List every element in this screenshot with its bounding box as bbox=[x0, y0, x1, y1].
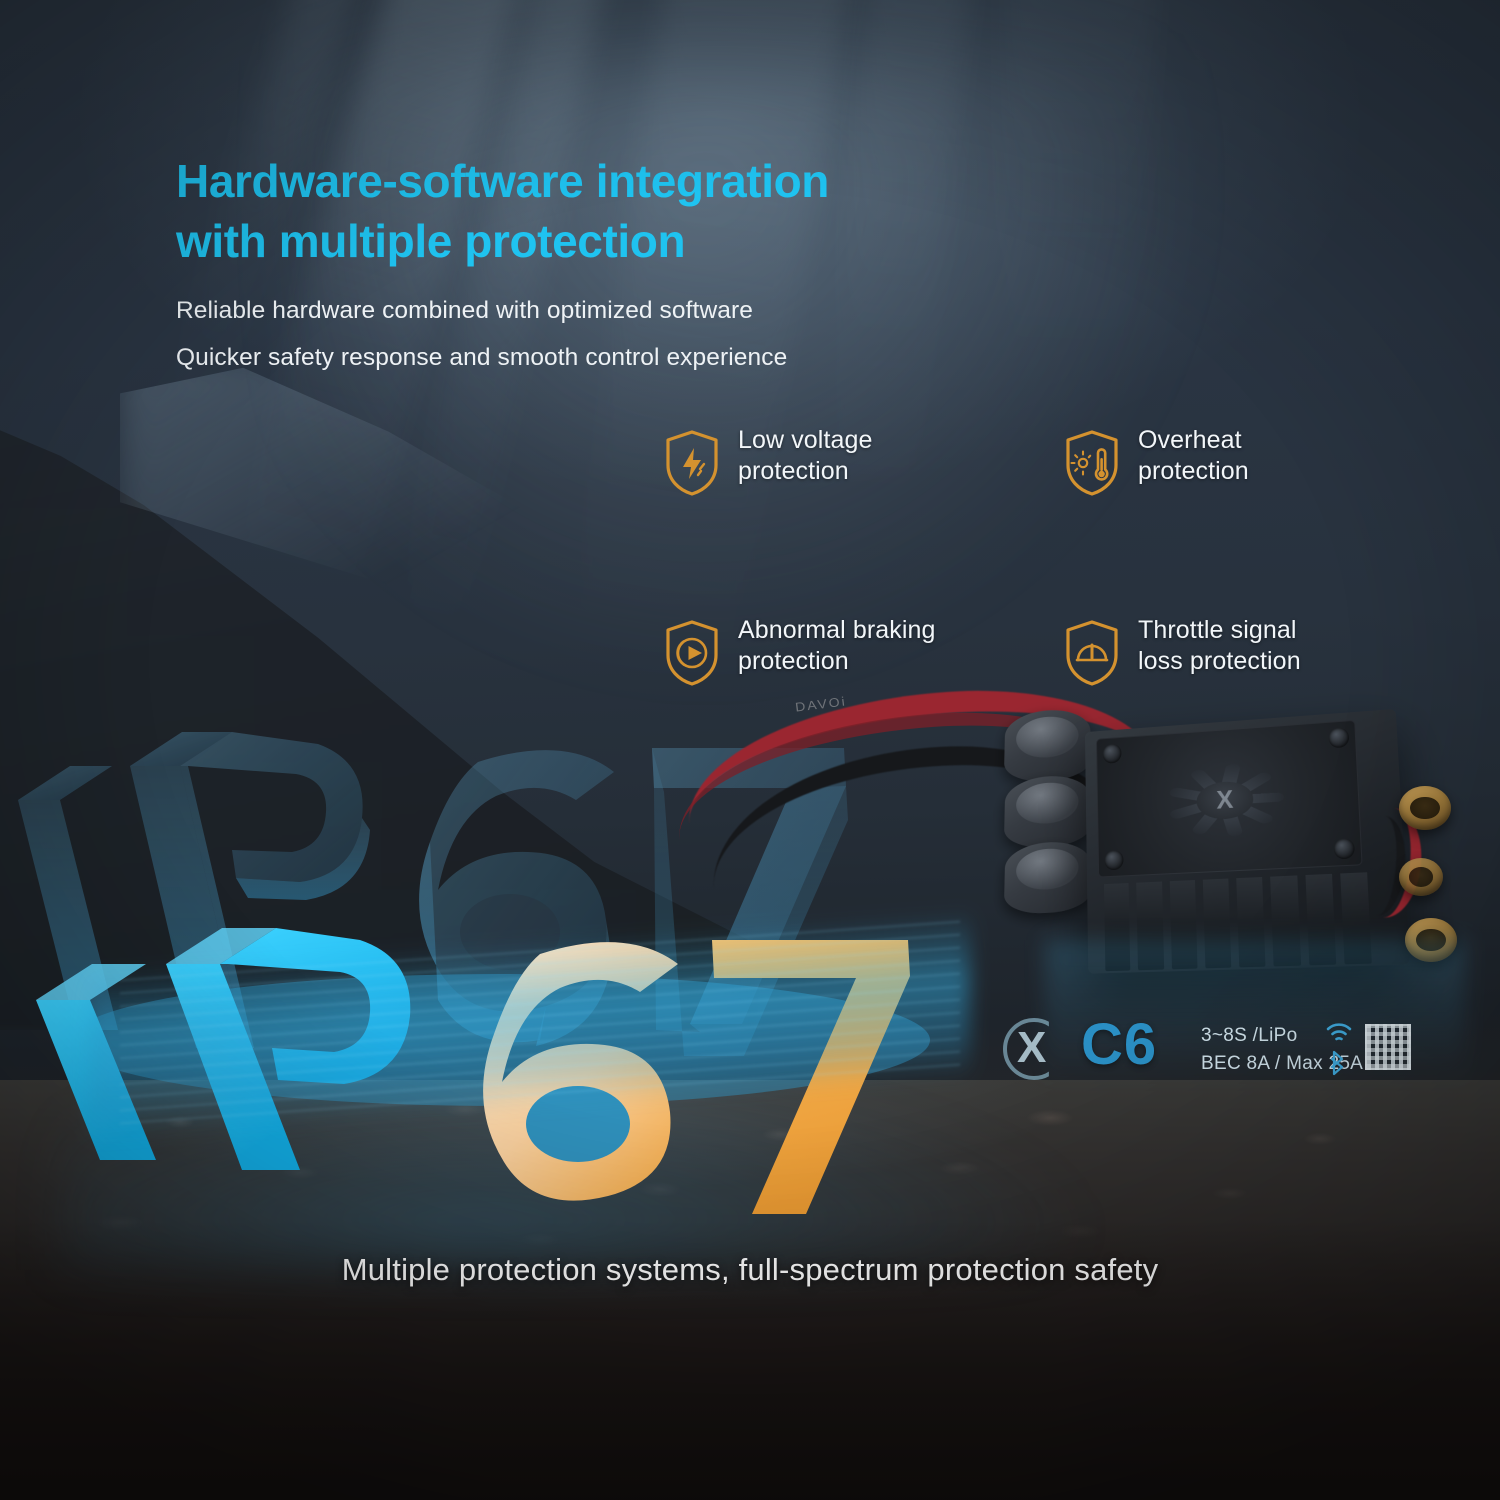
feature-label: Overheat protection bbox=[1138, 425, 1249, 486]
wifi-icon bbox=[1325, 1022, 1353, 1044]
shield-throttle-gauge-icon bbox=[1064, 619, 1120, 687]
shield-thermometer-icon bbox=[1064, 429, 1120, 497]
feature-throttle-signal-loss-protection: Throttle signal loss protection bbox=[1064, 615, 1364, 687]
subtitle-line-2: Quicker safety response and smooth contr… bbox=[176, 343, 1096, 372]
feature-abnormal-braking-protection: Abnormal braking protection bbox=[664, 615, 1064, 687]
bullet-connector bbox=[1405, 918, 1457, 962]
capacitor bbox=[1004, 707, 1092, 783]
esc-device: DAVOi X bbox=[985, 690, 1445, 1110]
subtitle-line-1: Reliable hardware combined with optimize… bbox=[176, 296, 1096, 325]
capacitor bbox=[1004, 773, 1092, 849]
page-title: Hardware-software integration with multi… bbox=[176, 152, 1076, 272]
screw-icon bbox=[1103, 744, 1122, 764]
brand-x-icon: X bbox=[1017, 1026, 1046, 1070]
bluetooth-icon bbox=[1327, 1050, 1347, 1076]
cooling-fan: X bbox=[1096, 720, 1363, 878]
product-feature-panel: Hardware-software integration with multi… bbox=[0, 0, 1500, 1500]
headline-line-1: Hardware-software integration bbox=[176, 152, 1076, 212]
protection-feature-grid: Low voltage protection Overheat protecti… bbox=[664, 425, 1364, 687]
heatsink-fins bbox=[1104, 872, 1372, 971]
headline-line-2: with multiple protection bbox=[176, 212, 1076, 272]
esc-spec-label: X C6 3~8S /LiPo BEC 8A / Max 25A bbox=[1003, 1010, 1423, 1088]
feature-label: Low voltage protection bbox=[738, 425, 873, 486]
bullet-connector bbox=[1399, 858, 1443, 896]
shield-lightning-icon bbox=[664, 429, 720, 497]
brand-x-icon: X bbox=[1216, 784, 1234, 815]
feature-label: Throttle signal loss protection bbox=[1138, 615, 1301, 676]
footer-caption: Multiple protection systems, full-spectr… bbox=[0, 1252, 1500, 1288]
feature-label: Abnormal braking protection bbox=[738, 615, 936, 676]
qr-code bbox=[1365, 1024, 1411, 1070]
screw-icon bbox=[1333, 838, 1355, 859]
model-name: C6 bbox=[1081, 1016, 1157, 1074]
screw-icon bbox=[1328, 727, 1349, 748]
bullet-connector bbox=[1399, 786, 1451, 830]
feature-overheat-protection: Overheat protection bbox=[1064, 425, 1364, 497]
capacitor bbox=[1004, 839, 1092, 915]
shield-brake-disc-icon bbox=[664, 619, 720, 687]
screw-icon bbox=[1104, 850, 1123, 870]
feature-low-voltage-protection: Low voltage protection bbox=[664, 425, 1064, 497]
